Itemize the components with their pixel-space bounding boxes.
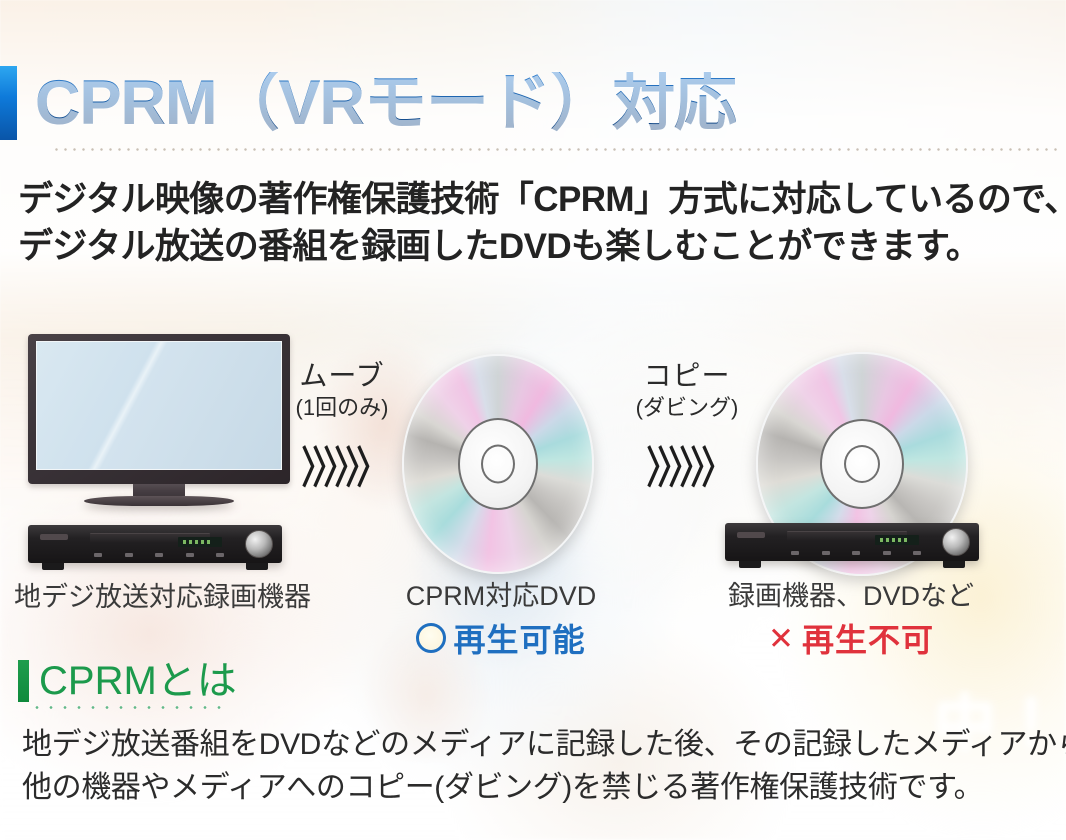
cross-ng-icon: ✕ bbox=[768, 623, 795, 654]
page-title-row: CPRM（VRモード）対応 bbox=[0, 62, 736, 144]
arrow-copy-sublabel: (ダビング) bbox=[625, 394, 749, 422]
device-feet bbox=[725, 561, 979, 569]
device-logo bbox=[737, 532, 765, 538]
device-feet bbox=[28, 563, 282, 571]
device-button-row bbox=[94, 553, 224, 558]
arrow-move-chevrons: 〉〉〉〉〉〉 bbox=[286, 432, 398, 496]
arrow-move-label: ムーブ bbox=[286, 360, 398, 392]
device-body bbox=[28, 525, 282, 563]
section-accent-bar bbox=[18, 660, 29, 702]
flow-diagram: ムーブ (1回のみ) 〉〉〉〉〉〉 コピー (ダビング) 〉〉〉〉〉〉 bbox=[0, 320, 1066, 650]
device-display-panel bbox=[178, 537, 222, 547]
tv-stand-base bbox=[84, 496, 234, 506]
disc-center-hole bbox=[844, 445, 880, 483]
device-logo bbox=[40, 534, 68, 540]
caption-center-status: 再生可能 bbox=[370, 615, 632, 661]
caption-left: 地デジ放送対応録画機器 bbox=[14, 575, 304, 614]
section-heading-row: CPRMとは bbox=[18, 660, 237, 702]
arrow-copy-group: コピー (ダビング) 〉〉〉〉〉〉 bbox=[625, 360, 749, 476]
device-display-panel bbox=[875, 535, 919, 545]
lead-line-1: デジタル映像の著作権保護技術「CPRM」方式に対応しているので、 bbox=[18, 176, 1058, 223]
disc-center-hole bbox=[481, 445, 515, 484]
title-divider bbox=[52, 148, 1062, 151]
section-body: 地デジ放送番組をDVDなどのメディアに記録した後、その記録したメディアから 他の… bbox=[22, 724, 1052, 809]
recorder-device-right-icon bbox=[725, 523, 979, 569]
tv-screen bbox=[36, 341, 282, 470]
caption-center-title: CPRM対応DVD bbox=[370, 574, 632, 613]
caption-center-status-text: 再生可能 bbox=[453, 615, 585, 661]
circle-ok-icon bbox=[416, 623, 446, 653]
caption-left-title: 地デジ放送対応録画機器 bbox=[14, 575, 304, 614]
caption-right: 録画機器、DVDなど ✕ 再生不可 bbox=[715, 574, 987, 661]
section-heading: CPRMとは bbox=[39, 661, 237, 701]
arrow-move-group: ムーブ (1回のみ) 〉〉〉〉〉〉 bbox=[286, 360, 398, 476]
caption-right-status-text: 再生不可 bbox=[802, 615, 934, 661]
section-body-line-1: 地デジ放送番組をDVDなどのメディアに記録した後、その記録したメディアから bbox=[22, 724, 1052, 767]
lead-line-2: デジタル放送の番組を録画したDVDも楽しむことができます。 bbox=[18, 223, 1058, 270]
arrow-move-sublabel: (1回のみ) bbox=[286, 394, 398, 422]
television-icon bbox=[28, 334, 290, 506]
section-body-line-2: 他の機器やメディアへのコピー(ダビング)を禁じる著作権保護技術です。 bbox=[22, 767, 1052, 810]
recorder-device-left-icon bbox=[28, 525, 282, 571]
tv-stand-neck bbox=[133, 484, 185, 496]
page-title: CPRM（VRモード）対応 bbox=[35, 72, 736, 135]
device-jog-dial bbox=[245, 530, 273, 558]
title-accent-bar bbox=[0, 66, 17, 140]
arrow-copy-label: コピー bbox=[625, 360, 749, 392]
device-button-row bbox=[791, 551, 921, 556]
caption-right-title: 録画機器、DVDなど bbox=[715, 574, 987, 613]
lead-paragraph: デジタル映像の著作権保護技術「CPRM」方式に対応しているので、 デジタル放送の… bbox=[18, 176, 1058, 271]
section-divider bbox=[30, 706, 225, 709]
tv-body bbox=[28, 334, 290, 484]
caption-right-status: ✕ 再生不可 bbox=[715, 615, 987, 661]
caption-center: CPRM対応DVD 再生可能 bbox=[370, 574, 632, 661]
device-jog-dial bbox=[942, 528, 970, 556]
dvd-disc-center-icon bbox=[402, 354, 594, 574]
device-body bbox=[725, 523, 979, 561]
arrow-copy-chevrons: 〉〉〉〉〉〉 bbox=[625, 432, 749, 496]
infographic-page: 中！ CPRM（VRモード）対応 デジタル映像の著作権保護技術「CPRM」方式に… bbox=[0, 0, 1066, 840]
